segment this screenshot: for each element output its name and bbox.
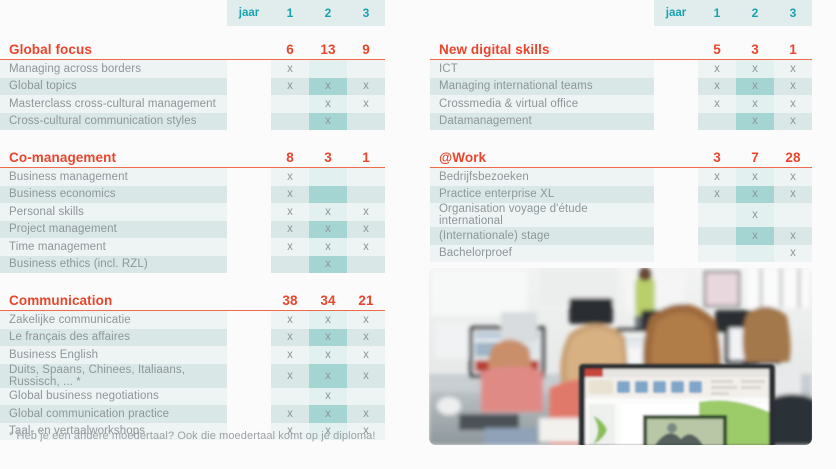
section-total-year-3: 1 [347, 142, 385, 168]
section-header-row: Co-management831 [0, 142, 385, 168]
course-mark-year-1 [698, 113, 736, 131]
course-mark-year-1: x [271, 329, 309, 347]
section-total-jaar [654, 34, 698, 60]
section-title: @Work [430, 142, 654, 168]
course-mark-year-1: x [271, 238, 309, 256]
table-row: Le français des affairesxxx [0, 329, 385, 347]
section-total-year-2: 3 [736, 34, 774, 60]
course-mark-year-3: x [347, 203, 385, 221]
course-label: Business management [0, 168, 227, 186]
row-spacer [227, 388, 271, 406]
row-spacer [654, 113, 698, 131]
course-mark-year-2: x [736, 186, 774, 204]
year-column-header-3: 3 [347, 0, 385, 26]
table-row: Global communication practicexxx [0, 405, 385, 423]
course-mark-year-2: x [309, 364, 347, 388]
course-label: Business English [0, 346, 227, 364]
course-mark-year-3: x [347, 78, 385, 96]
table-row: Global topicsxxx [0, 78, 385, 96]
row-spacer [227, 405, 271, 423]
table-row: Organisation voyage d'étude internationa… [430, 203, 812, 227]
header-spacer-row [430, 26, 812, 34]
table-row: Bedrijfsbezoekenxxx [430, 168, 812, 186]
course-mark-year-3 [347, 113, 385, 131]
row-spacer [227, 168, 271, 186]
course-mark-year-3: x [347, 329, 385, 347]
section-header-row: @Work3728 [430, 142, 812, 168]
course-mark-year-3 [774, 203, 812, 227]
course-mark-year-3: x [774, 168, 812, 186]
classroom-computers-photo [429, 268, 812, 445]
table-row: Bachelorproefx [430, 245, 812, 263]
jaar-label: jaar [227, 0, 271, 26]
right-curriculum-table: jaar123New digital skills531ICTxxxManagi… [430, 0, 812, 262]
course-mark-year-1: x [271, 186, 309, 204]
course-mark-year-1: x [271, 78, 309, 96]
row-spacer [227, 95, 271, 113]
course-mark-year-2 [309, 186, 347, 204]
course-mark-year-1 [698, 245, 736, 263]
row-spacer [654, 227, 698, 245]
course-label: Project management [0, 221, 227, 239]
course-label: ICT [430, 60, 654, 78]
left-table: jaar123Global focus6139Managing across b… [0, 0, 385, 440]
course-mark-year-2: x [736, 227, 774, 245]
table-row: Business Englishxxx [0, 346, 385, 364]
course-mark-year-1: x [698, 168, 736, 186]
year-header-row: jaar123 [430, 0, 812, 26]
table-row: Project managementxxx [0, 221, 385, 239]
course-mark-year-3: x [347, 311, 385, 329]
left-curriculum-table: jaar123Global focus6139Managing across b… [0, 0, 385, 440]
table-row: Business economicsx [0, 186, 385, 204]
course-label: Bachelorproef [430, 245, 654, 263]
course-mark-year-3: x [347, 221, 385, 239]
course-mark-year-1 [271, 388, 309, 406]
row-spacer [227, 256, 271, 274]
course-mark-year-3: x [774, 60, 812, 78]
course-mark-year-1: x [698, 95, 736, 113]
course-mark-year-2: x [736, 113, 774, 131]
table-row: Time managementxxx [0, 238, 385, 256]
header-spacer [0, 0, 227, 26]
year-column-header-2: 2 [309, 0, 347, 26]
section-total-year-3: 9 [347, 34, 385, 60]
row-spacer [654, 203, 698, 227]
course-mark-year-1: x [698, 186, 736, 204]
course-mark-year-3: x [347, 95, 385, 113]
course-mark-year-2: x [736, 203, 774, 227]
section-total-year-1: 38 [271, 285, 309, 311]
year-column-header-1: 1 [271, 0, 309, 26]
section-total-jaar [227, 34, 271, 60]
course-mark-year-3: x [774, 227, 812, 245]
course-mark-year-2 [736, 245, 774, 263]
footnote-text: * Heb je een andere moedertaal? Ook die … [9, 430, 376, 442]
course-mark-year-2: x [309, 311, 347, 329]
section-title: Global focus [0, 34, 227, 60]
course-label: Personal skills [0, 203, 227, 221]
row-spacer [654, 186, 698, 204]
course-mark-year-2: x [309, 346, 347, 364]
course-mark-year-2: x [736, 60, 774, 78]
course-mark-year-1: x [698, 60, 736, 78]
header-spacer-row [0, 26, 385, 34]
section-total-year-2: 34 [309, 285, 347, 311]
table-row: Practice enterprise XLxxx [430, 186, 812, 204]
section-title: New digital skills [430, 34, 654, 60]
course-mark-year-2: x [309, 78, 347, 96]
table-row: Datamanagementxx [430, 113, 812, 131]
section-total-year-1: 3 [698, 142, 736, 168]
course-mark-year-3 [347, 388, 385, 406]
table-row: Crossmedia & virtual officexxx [430, 95, 812, 113]
photo-illustration [429, 268, 812, 445]
table-row: Managing across bordersx [0, 60, 385, 78]
row-spacer [227, 221, 271, 239]
row-spacer [227, 186, 271, 204]
table-row: ICTxxx [430, 60, 812, 78]
course-mark-year-1: x [271, 311, 309, 329]
section-total-year-1: 8 [271, 142, 309, 168]
course-label: Global topics [0, 78, 227, 96]
section-total-year-2: 13 [309, 34, 347, 60]
section-header-row: New digital skills531 [430, 34, 812, 60]
section-total-year-3: 28 [774, 142, 812, 168]
course-mark-year-2: x [736, 168, 774, 186]
jaar-label: jaar [654, 0, 698, 26]
course-mark-year-3: x [774, 186, 812, 204]
course-mark-year-2: x [309, 238, 347, 256]
course-mark-year-1: x [271, 168, 309, 186]
course-mark-year-1: x [271, 346, 309, 364]
section-total-year-3: 1 [774, 34, 812, 60]
course-label: Zakelijke communicatie [0, 311, 227, 329]
table-row: Business managementx [0, 168, 385, 186]
course-mark-year-2: x [309, 95, 347, 113]
course-mark-year-3 [347, 60, 385, 78]
course-label: Crossmedia & virtual office [430, 95, 654, 113]
course-mark-year-3: x [347, 238, 385, 256]
course-label: Business ethics (incl. RZL) [0, 256, 227, 274]
course-mark-year-2: x [309, 113, 347, 131]
row-spacer [654, 78, 698, 96]
course-mark-year-2: x [736, 95, 774, 113]
course-label: Duits, Spaans, Chinees, Italiaans, Russi… [0, 364, 227, 388]
course-mark-year-3 [347, 186, 385, 204]
course-mark-year-1: x [271, 405, 309, 423]
course-mark-year-3: x [347, 364, 385, 388]
row-spacer [227, 78, 271, 96]
course-mark-year-2: x [309, 256, 347, 274]
right-table: jaar123New digital skills531ICTxxxManagi… [430, 0, 812, 262]
course-mark-year-1: x [271, 203, 309, 221]
course-label: Global communication practice [0, 405, 227, 423]
table-row: Zakelijke communicatiexxx [0, 311, 385, 329]
section-header-row: Global focus6139 [0, 34, 385, 60]
course-mark-year-1: x [698, 78, 736, 96]
header-spacer [430, 0, 654, 26]
section-total-year-1: 5 [698, 34, 736, 60]
section-total-jaar [227, 285, 271, 311]
row-spacer [227, 346, 271, 364]
course-label: Datamanagement [430, 113, 654, 131]
row-spacer [654, 60, 698, 78]
section-total-year-2: 3 [309, 142, 347, 168]
course-mark-year-2: x [309, 221, 347, 239]
row-spacer [227, 311, 271, 329]
course-mark-year-2 [309, 168, 347, 186]
table-row: (Internationale) stagexx [430, 227, 812, 245]
row-spacer [654, 95, 698, 113]
course-mark-year-1 [271, 95, 309, 113]
section-header-row: Communication383421 [0, 285, 385, 311]
section-spacer [0, 130, 385, 142]
year-column-header-2: 2 [736, 0, 774, 26]
course-mark-year-1: x [271, 364, 309, 388]
row-spacer [227, 238, 271, 256]
section-spacer [0, 273, 385, 285]
course-mark-year-1: x [271, 221, 309, 239]
course-label: Global business negotiations [0, 388, 227, 406]
course-mark-year-3: x [347, 346, 385, 364]
row-spacer [227, 203, 271, 221]
course-mark-year-2: x [309, 405, 347, 423]
course-mark-year-3: x [774, 95, 812, 113]
course-mark-year-2: x [309, 329, 347, 347]
row-spacer [227, 329, 271, 347]
year-column-header-3: 3 [774, 0, 812, 26]
course-label: Masterclass cross-cultural management [0, 95, 227, 113]
row-spacer [654, 245, 698, 263]
section-total-year-1: 6 [271, 34, 309, 60]
course-mark-year-1 [271, 256, 309, 274]
table-row: Business ethics (incl. RZL)x [0, 256, 385, 274]
course-label: Managing across borders [0, 60, 227, 78]
course-mark-year-2: x [736, 78, 774, 96]
course-mark-year-1: x [271, 60, 309, 78]
course-mark-year-3: x [774, 78, 812, 96]
course-mark-year-1 [698, 203, 736, 227]
table-row: Managing international teamsxxx [430, 78, 812, 96]
section-spacer [430, 130, 812, 142]
section-total-year-3: 21 [347, 285, 385, 311]
table-row: Global business negotiationsx [0, 388, 385, 406]
table-row: Duits, Spaans, Chinees, Italiaans, Russi… [0, 364, 385, 388]
course-mark-year-1 [271, 113, 309, 131]
row-spacer [227, 113, 271, 131]
course-label: (Internationale) stage [430, 227, 654, 245]
row-spacer [227, 60, 271, 78]
row-spacer [227, 364, 271, 388]
course-label: Organisation voyage d'étude internationa… [430, 203, 654, 227]
section-title: Communication [0, 285, 227, 311]
section-total-jaar [654, 142, 698, 168]
course-label: Business economics [0, 186, 227, 204]
course-label: Time management [0, 238, 227, 256]
course-mark-year-3: x [347, 405, 385, 423]
row-spacer [654, 168, 698, 186]
course-mark-year-2 [309, 60, 347, 78]
table-row: Personal skillsxxx [0, 203, 385, 221]
course-label: Cross-cultural communication styles [0, 113, 227, 131]
course-label: Practice enterprise XL [430, 186, 654, 204]
course-mark-year-1 [698, 227, 736, 245]
course-mark-year-3 [347, 168, 385, 186]
course-mark-year-3: x [774, 245, 812, 263]
section-title: Co-management [0, 142, 227, 168]
course-mark-year-3: x [774, 113, 812, 131]
course-mark-year-3 [347, 256, 385, 274]
course-mark-year-2: x [309, 203, 347, 221]
curriculum-overview-page: jaar123Global focus6139Managing across b… [0, 0, 836, 469]
year-header-row: jaar123 [0, 0, 385, 26]
course-label: Managing international teams [430, 78, 654, 96]
course-mark-year-2: x [309, 388, 347, 406]
section-total-jaar [227, 142, 271, 168]
table-row: Masterclass cross-cultural managementxx [0, 95, 385, 113]
course-label: Bedrijfsbezoeken [430, 168, 654, 186]
course-label: Le français des affaires [0, 329, 227, 347]
table-row: Cross-cultural communication stylesx [0, 113, 385, 131]
year-column-header-1: 1 [698, 0, 736, 26]
section-total-year-2: 7 [736, 142, 774, 168]
